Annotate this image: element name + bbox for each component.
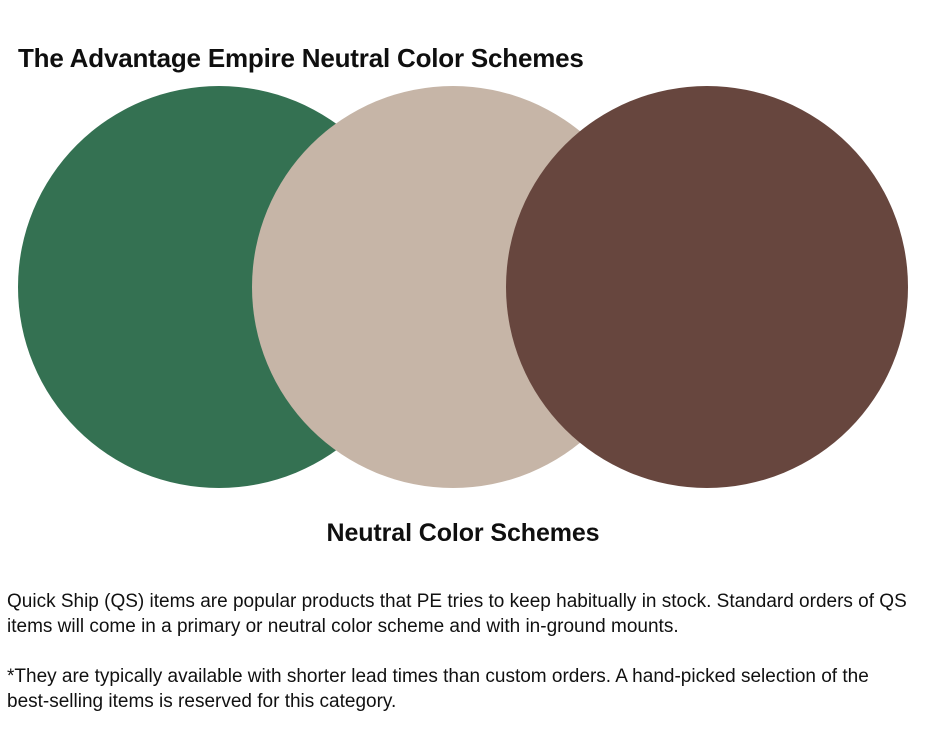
color-swatch-group: [0, 0, 926, 500]
document-page: The Advantage Empire Neutral Color Schem…: [0, 0, 926, 752]
brown-swatch-circle: [506, 86, 908, 488]
body-copy: Quick Ship (QS) items are popular produc…: [7, 589, 913, 714]
swatch-caption: Neutral Color Schemes: [0, 519, 926, 548]
paragraph-lead-times-note: *They are typically available with short…: [7, 664, 913, 714]
paragraph-quick-ship: Quick Ship (QS) items are popular produc…: [7, 589, 913, 639]
